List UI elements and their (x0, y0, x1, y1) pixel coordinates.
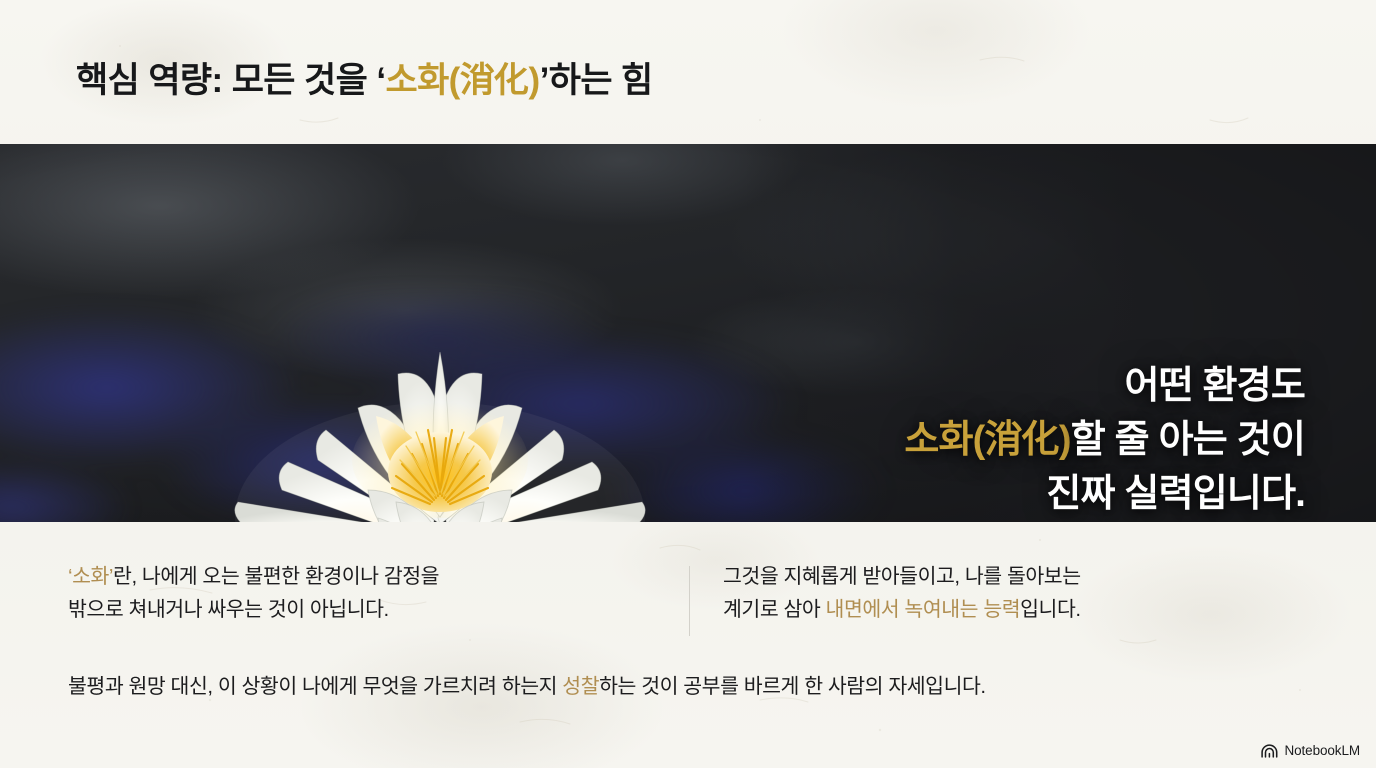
column-right-highlight: 내면에서 녹여내는 능력 (826, 598, 1021, 621)
column-right-line-1: 그것을 지혜롭게 받아들이고, 나를 돌아보는 (723, 560, 1323, 593)
title-suffix: ’하는 힘 (540, 61, 653, 100)
footer-note-suffix: 하는 것이 공부를 바르게 한 사람의 자세입니다. (599, 675, 986, 698)
slide-canvas: 핵심 역량: 모든 것을 ‘소화(消化)’하는 힘 (0, 0, 1376, 768)
hero-line-3: 진짜 실력입니다. (685, 468, 1305, 522)
column-left-line-2: 밖으로 쳐내거나 싸우는 것이 아닙니다. (68, 593, 668, 626)
lotus-flower-image (230, 312, 650, 522)
slide-title: 핵심 역량: 모든 것을 ‘소화(消化)’하는 힘 (76, 61, 653, 101)
explanation-columns: ‘소화’란, 나에게 오는 불편한 환경이나 감정을 밖으로 쳐내거나 싸우는 … (0, 560, 1376, 652)
hero-headline: 어떤 환경도 소화(消化)할 줄 아는 것이 진짜 실력입니다. (685, 360, 1305, 522)
hero-line-2-rest: 할 줄 아는 것이 (1071, 419, 1305, 461)
notebooklm-brand: NotebookLM (1261, 743, 1360, 758)
hero-image-band: 어떤 환경도 소화(消化)할 줄 아는 것이 진짜 실력입니다. (0, 144, 1376, 522)
footer-note-prefix: 불평과 원망 대신, 이 상황이 나에게 무엇을 가르치려 하는지 (68, 675, 562, 698)
hero-line-1: 어떤 환경도 (685, 360, 1305, 414)
column-right: 그것을 지혜롭게 받아들이고, 나를 돌아보는 계기로 삼아 내면에서 녹여내는… (723, 560, 1323, 626)
notebooklm-arc-icon (1261, 744, 1278, 758)
column-divider (689, 566, 690, 636)
column-left-highlight: ‘소화’ (68, 565, 113, 588)
column-right-line-2-suffix: 입니다. (1020, 598, 1080, 621)
notebooklm-brand-name: NotebookLM (1284, 743, 1360, 758)
column-left: ‘소화’란, 나에게 오는 불편한 환경이나 감정을 밖으로 쳐내거나 싸우는 … (68, 560, 668, 626)
column-left-line-1-rest: 란, 나에게 오는 불편한 환경이나 감정을 (113, 565, 439, 588)
title-prefix: 핵심 역량: 모든 것을 ‘ (76, 61, 385, 100)
title-highlight: 소화(消化) (385, 61, 539, 100)
hero-line-2-highlight: 소화(消化) (904, 419, 1070, 461)
slide-title-bar: 핵심 역량: 모든 것을 ‘소화(消化)’하는 힘 (76, 50, 1316, 112)
column-right-line-2: 계기로 삼아 내면에서 녹여내는 능력입니다. (723, 593, 1323, 626)
column-right-line-2-prefix: 계기로 삼아 (723, 598, 826, 621)
hero-line-2: 소화(消化)할 줄 아는 것이 (685, 414, 1305, 468)
footer-note: 불평과 원망 대신, 이 상황이 나에게 무엇을 가르치려 하는지 성찰하는 것… (68, 672, 1338, 703)
column-left-line-1: ‘소화’란, 나에게 오는 불편한 환경이나 감정을 (68, 560, 668, 593)
footer-note-highlight: 성찰 (562, 675, 599, 698)
